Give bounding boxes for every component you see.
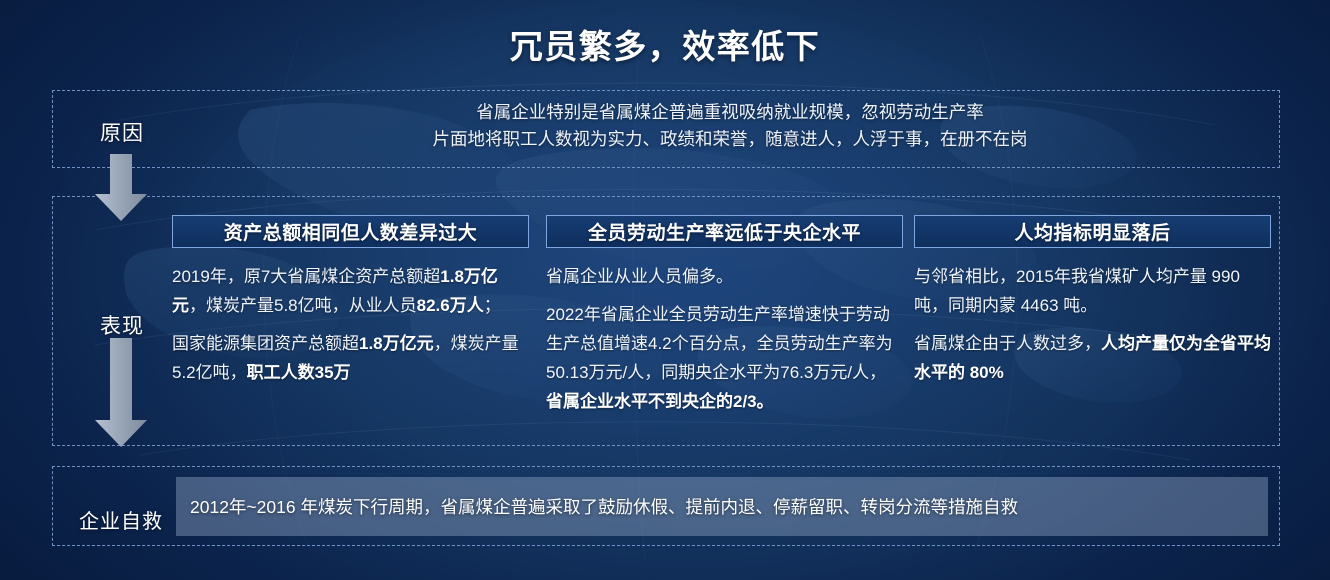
column-body-3: 与邻省相比，2015年我省煤矿人均产量 990吨，同期内蒙 4463 吨。省属煤… <box>914 262 1271 387</box>
page-title: 冗员繁多，效率低下 <box>0 20 1330 68</box>
body-text: 2019年，原7大省属煤企资产总额超 <box>172 267 440 286</box>
body-text: 省属煤企由于人数过多， <box>914 334 1101 353</box>
body-text: ，煤炭产量5.8亿吨，从业人员 <box>189 296 417 315</box>
cause-line-2: 片面地将职工人数视为实力、政绩和荣誉，随意进人，人浮于事，在册不在岗 <box>200 126 1260 153</box>
emphasis-text: 82.6万人 <box>417 296 484 315</box>
paragraph: 2022年省属企业全员劳动生产率增速快于劳动生产总值增速4.2个百分点，全员劳动… <box>546 300 903 416</box>
cause-line-1: 省属企业特别是省属煤企普遍重视吸纳就业规模，忽视劳动生产率 <box>200 99 1260 126</box>
emphasis-text: 职工人数35万 <box>247 363 351 382</box>
row-label-self-help: 企业自救 <box>56 505 186 534</box>
body-text: 与邻省相比，2015年我省煤矿人均产量 990吨，同期内蒙 4463 吨。 <box>914 267 1240 315</box>
down-arrow-icon-bottom <box>92 338 150 448</box>
emphasis-text: 省属企业水平不到央企的2/3。 <box>546 392 774 411</box>
body-text: 国家能源集团资产总额超 <box>172 334 359 353</box>
row-label-manifestation: 表现 <box>62 310 182 340</box>
manifestation-column-3: 人均指标明显落后 与邻省相比，2015年我省煤矿人均产量 990吨，同期内蒙 4… <box>914 215 1271 387</box>
manifestation-column-2: 全员劳动生产率远低于央企水平 省属企业从业人员偏多。2022年省属企业全员劳动生… <box>546 215 903 416</box>
column-header-2: 全员劳动生产率远低于央企水平 <box>546 215 903 248</box>
manifestation-column-1: 资产总额相同但人数差异过大 2019年，原7大省属煤企资产总额超1.8万亿元，煤… <box>172 215 529 387</box>
column-body-1: 2019年，原7大省属煤企资产总额超1.8万亿元，煤炭产量5.8亿吨，从业人员8… <box>172 262 529 387</box>
column-header-3: 人均指标明显落后 <box>914 215 1271 248</box>
paragraph: 省属企业从业人员偏多。 <box>546 262 903 291</box>
paragraph: 省属煤企由于人数过多，人均产量仅为全省平均水平的 80% <box>914 329 1271 387</box>
body-text: 省属企业从业人员偏多。 <box>546 267 733 286</box>
column-body-2: 省属企业从业人员偏多。2022年省属企业全员劳动生产率增速快于劳动生产总值增速4… <box>546 262 903 416</box>
body-text: 2022年省属企业全员劳动生产率增速快于劳动生产总值增速4.2个百分点，全员劳动… <box>546 305 893 382</box>
down-arrow-icon-top <box>92 154 150 222</box>
paragraph: 国家能源集团资产总额超1.8万亿元，煤炭产量5.2亿吨，职工人数35万 <box>172 329 529 387</box>
emphasis-text: 1.8万亿元 <box>359 334 434 353</box>
self-help-text: 2012年~2016 年煤炭下行周期，省属煤企普遍采取了鼓励休假、提前内退、停薪… <box>176 495 1018 519</box>
body-text: ； <box>484 296 501 315</box>
paragraph: 与邻省相比，2015年我省煤矿人均产量 990吨，同期内蒙 4463 吨。 <box>914 262 1271 320</box>
paragraph: 2019年，原7大省属煤企资产总额超1.8万亿元，煤炭产量5.8亿吨，从业人员8… <box>172 262 529 320</box>
cause-text-block: 省属企业特别是省属煤企普遍重视吸纳就业规模，忽视劳动生产率 片面地将职工人数视为… <box>200 99 1260 153</box>
self-help-band: 2012年~2016 年煤炭下行周期，省属煤企普遍采取了鼓励休假、提前内退、停薪… <box>176 477 1268 536</box>
row-label-cause: 原因 <box>62 117 182 147</box>
column-header-1: 资产总额相同但人数差异过大 <box>172 215 529 248</box>
